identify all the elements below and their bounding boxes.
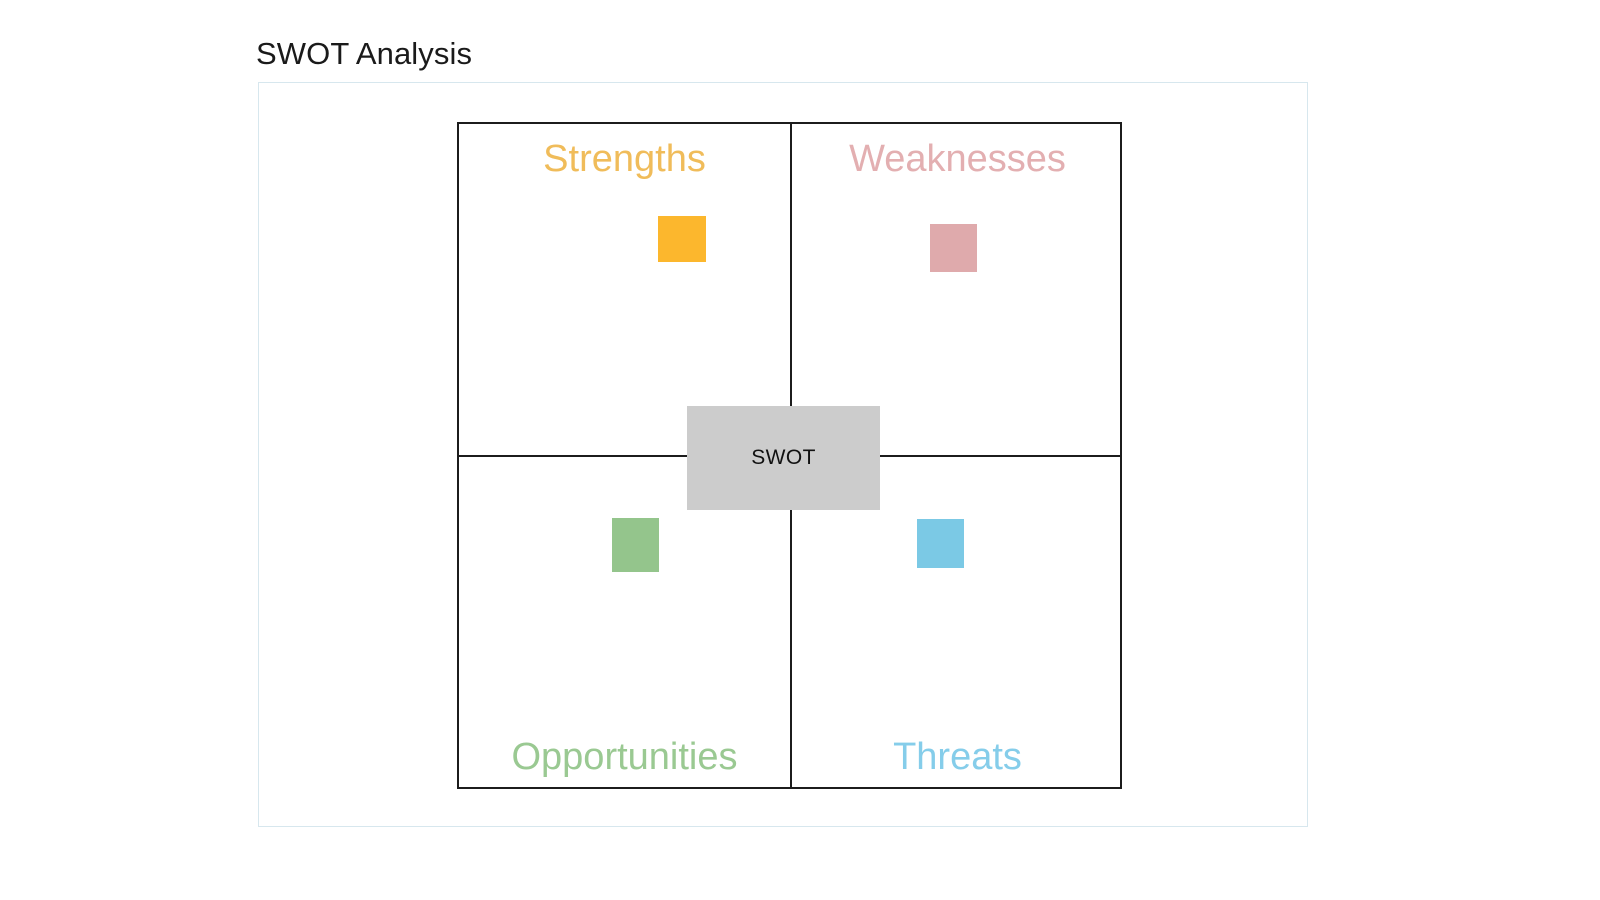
quadrant-label-opportunities: Opportunities: [459, 738, 790, 776]
weaknesses-marker-icon: [930, 224, 977, 272]
strengths-marker-icon: [658, 216, 706, 262]
quadrant-label-threats: Threats: [792, 738, 1123, 776]
threats-marker-icon: [917, 519, 964, 568]
page-title: SWOT Analysis: [256, 36, 472, 72]
quadrant-label-weaknesses: Weaknesses: [792, 140, 1123, 178]
opportunities-marker-icon: [612, 518, 659, 572]
swot-center-label: SWOT: [751, 446, 816, 470]
swot-center-node[interactable]: SWOT: [687, 406, 880, 510]
quadrant-label-strengths: Strengths: [459, 140, 790, 178]
